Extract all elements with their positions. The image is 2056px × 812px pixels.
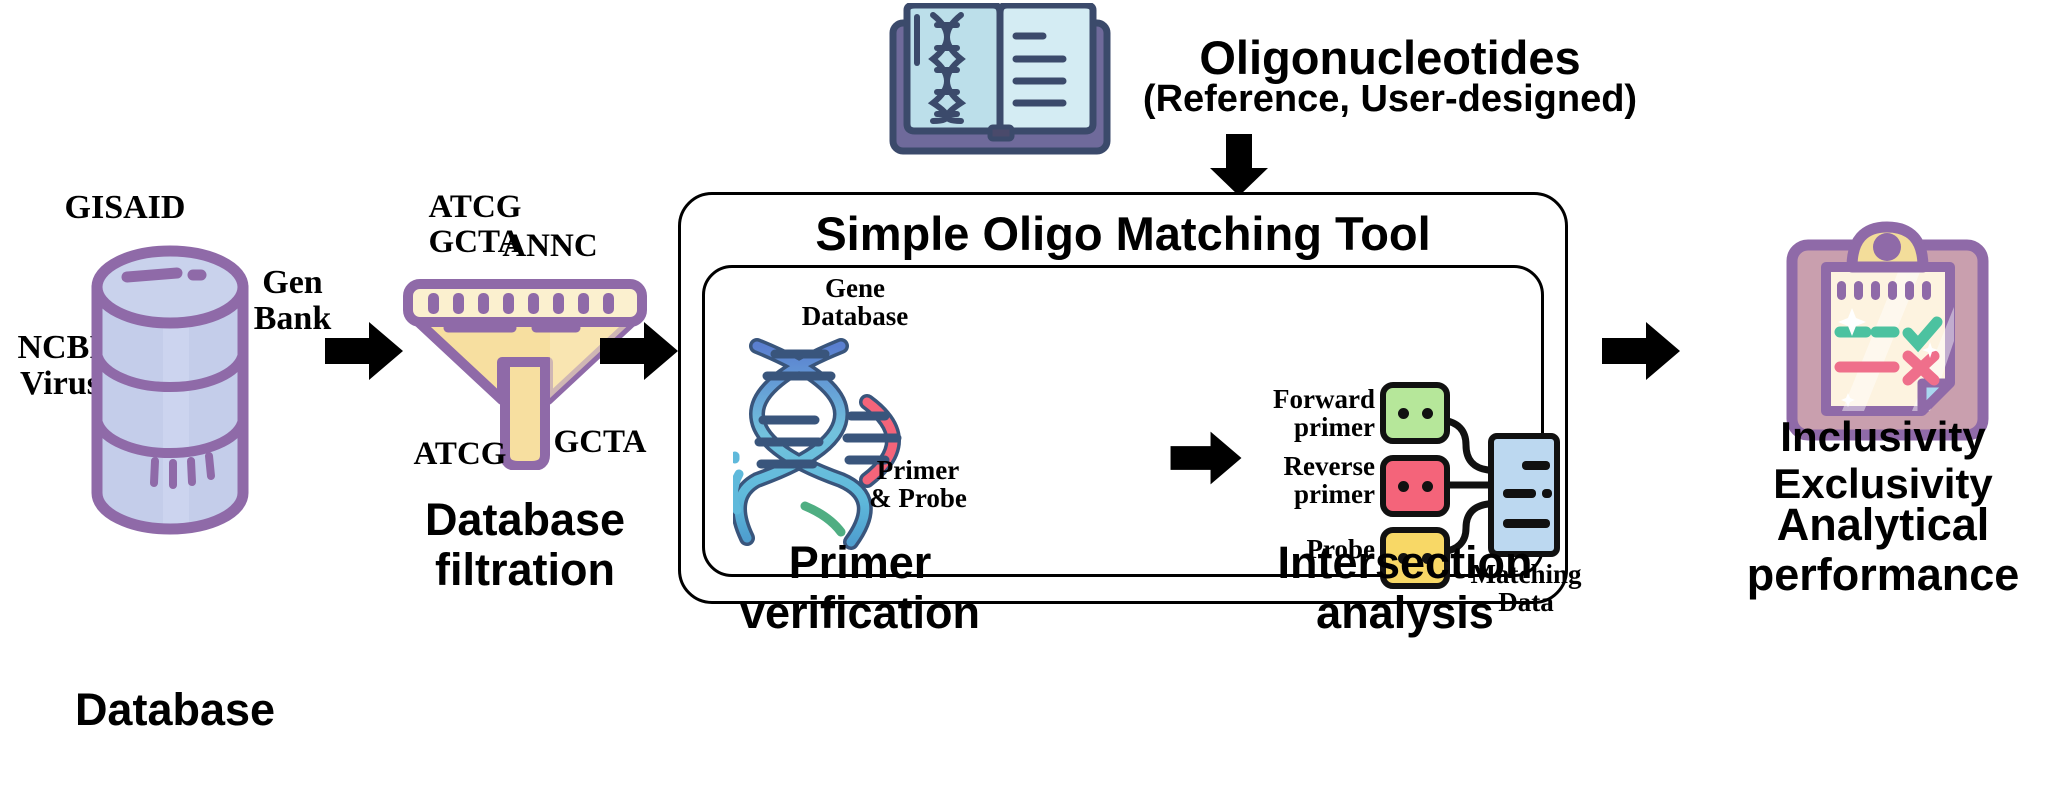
arrow-down [1206, 134, 1272, 196]
filtration-stage: ATCG GCTA ANNC ATCG [400, 185, 650, 610]
clipboard-report-icon [1780, 215, 1995, 445]
node-dot [1398, 481, 1409, 492]
doc-line [1503, 519, 1550, 528]
database-stage: GISAID Gen Bank NCBI Virus D [0, 190, 360, 610]
arrow-right-4 [1602, 318, 1680, 384]
node-dot [1398, 408, 1409, 419]
gene-database-label: Gene Database [755, 274, 955, 331]
primer-probe-label: Primer & Probe [843, 456, 993, 513]
primer-verification-step: Gene Database [715, 270, 1005, 570]
filtration-label-bottom-left: ATCG [405, 437, 515, 472]
doc-line [1522, 461, 1550, 470]
arrow-right-2 [600, 318, 678, 384]
node-dot [1422, 408, 1433, 419]
filtration-label-top-right: ANNC [475, 229, 625, 264]
open-book-dna-icon [885, 3, 1115, 163]
forward-primer-label: Forward primer [1255, 385, 1375, 442]
database-caption: Database [30, 685, 320, 735]
inclusivity-exclusivity-label: Inclusivity Exclusivity [1718, 413, 2048, 507]
database-label-gisaid: GISAID [30, 190, 220, 226]
reverse-primer-label: Reverse primer [1255, 452, 1375, 509]
arrow-right-3 [1170, 428, 1242, 488]
oligonucleotides-title: Oligonucleotides [1140, 32, 1640, 85]
filtration-caption: Database filtration [375, 495, 675, 596]
primer-verification-caption: Primer verification [710, 538, 1010, 639]
reverse-primer-node[interactable] [1380, 455, 1450, 517]
node-dot [1422, 481, 1433, 492]
intersection-analysis-step: Forward primer Reverse primer Probe Matc… [1260, 285, 1560, 585]
oligonucleotides-subtitle: (Reference, User-designed) [1120, 78, 1660, 121]
database-cylinder-icon [85, 245, 255, 535]
workflow-diagram: GISAID Gen Bank NCBI Virus D [0, 0, 2056, 812]
analytical-performance-stage: Inclusivity Exclusivity Analytical perfo… [1710, 215, 2056, 610]
dna-helix-icon [733, 328, 948, 558]
doc-line [1542, 489, 1552, 498]
tool-title: Simple Oligo Matching Tool [678, 206, 1568, 261]
filtration-label-bottom-right: GCTA [545, 425, 655, 460]
arrow-right-1 [325, 318, 403, 384]
intersection-analysis-caption: Intersection analysis [1240, 538, 1570, 639]
doc-line [1503, 489, 1536, 498]
forward-primer-node[interactable] [1380, 382, 1450, 444]
analytical-performance-caption: Analytical performance [1718, 500, 2048, 601]
